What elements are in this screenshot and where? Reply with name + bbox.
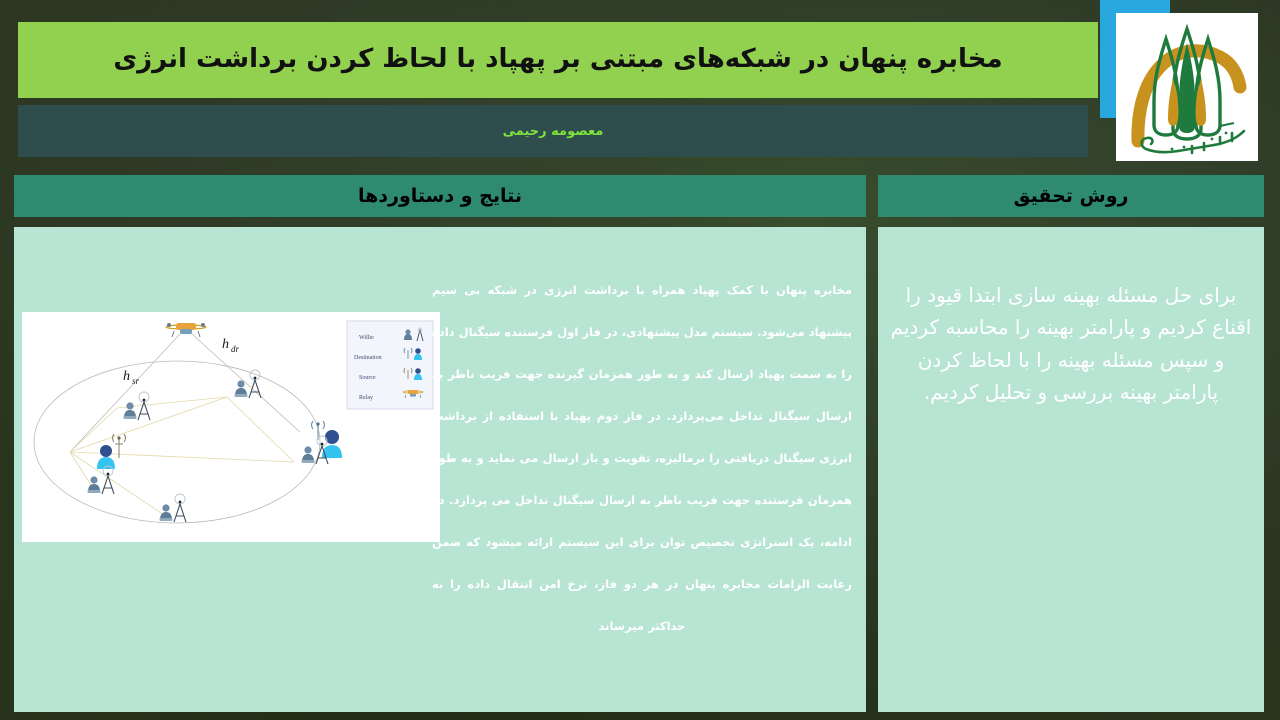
section-header-results-label: نتایج و دستاوردها: [358, 185, 522, 207]
legend-label-willie: Willie: [359, 335, 374, 341]
page-title: مخابره پنهان در شبکه‌های مبتنی بر پهپاد …: [85, 42, 1030, 77]
university-logo: [1116, 13, 1258, 161]
results-body-text: مخابره پنهان با کمک پهپاد همراه با برداش…: [432, 269, 852, 647]
figure-legend: Willie Destination Source Relay: [347, 321, 433, 409]
section-header-method: روش تحقیق: [878, 175, 1264, 217]
logo-artwork: [1116, 13, 1258, 161]
label-h-dr-sub: dr: [231, 344, 240, 354]
author-name: معصومه رحیمی: [503, 124, 604, 139]
method-body-text: برای حل مسئله بهینه سازی ابتدا قیود را ا…: [890, 279, 1252, 409]
section-header-method-label: روش تحقیق: [1014, 185, 1129, 207]
figure-container: h sr h dr: [22, 312, 440, 542]
legend-label-destination: Destination: [354, 355, 382, 361]
poster-canvas: مخابره پنهان در شبکه‌های مبتنی بر پهپاد …: [0, 0, 1280, 720]
author-bar: معصومه رحیمی: [18, 105, 1088, 157]
label-h-sr-sub: sr: [132, 376, 140, 386]
uav-network-diagram: h sr h dr: [22, 312, 440, 542]
panel-method: برای حل مسئله بهینه سازی ابتدا قیود را ا…: [878, 227, 1264, 712]
legend-label-relay: Relay: [359, 395, 373, 401]
section-header-results: نتایج و دستاوردها: [14, 175, 866, 217]
panel-results: h sr h dr: [14, 227, 866, 712]
poster-title-bar: مخابره پنهان در شبکه‌های مبتنی بر پهپاد …: [18, 22, 1098, 98]
legend-label-source: Source: [359, 375, 376, 381]
label-h-dr: h: [222, 337, 229, 352]
label-h-sr: h: [123, 369, 130, 384]
